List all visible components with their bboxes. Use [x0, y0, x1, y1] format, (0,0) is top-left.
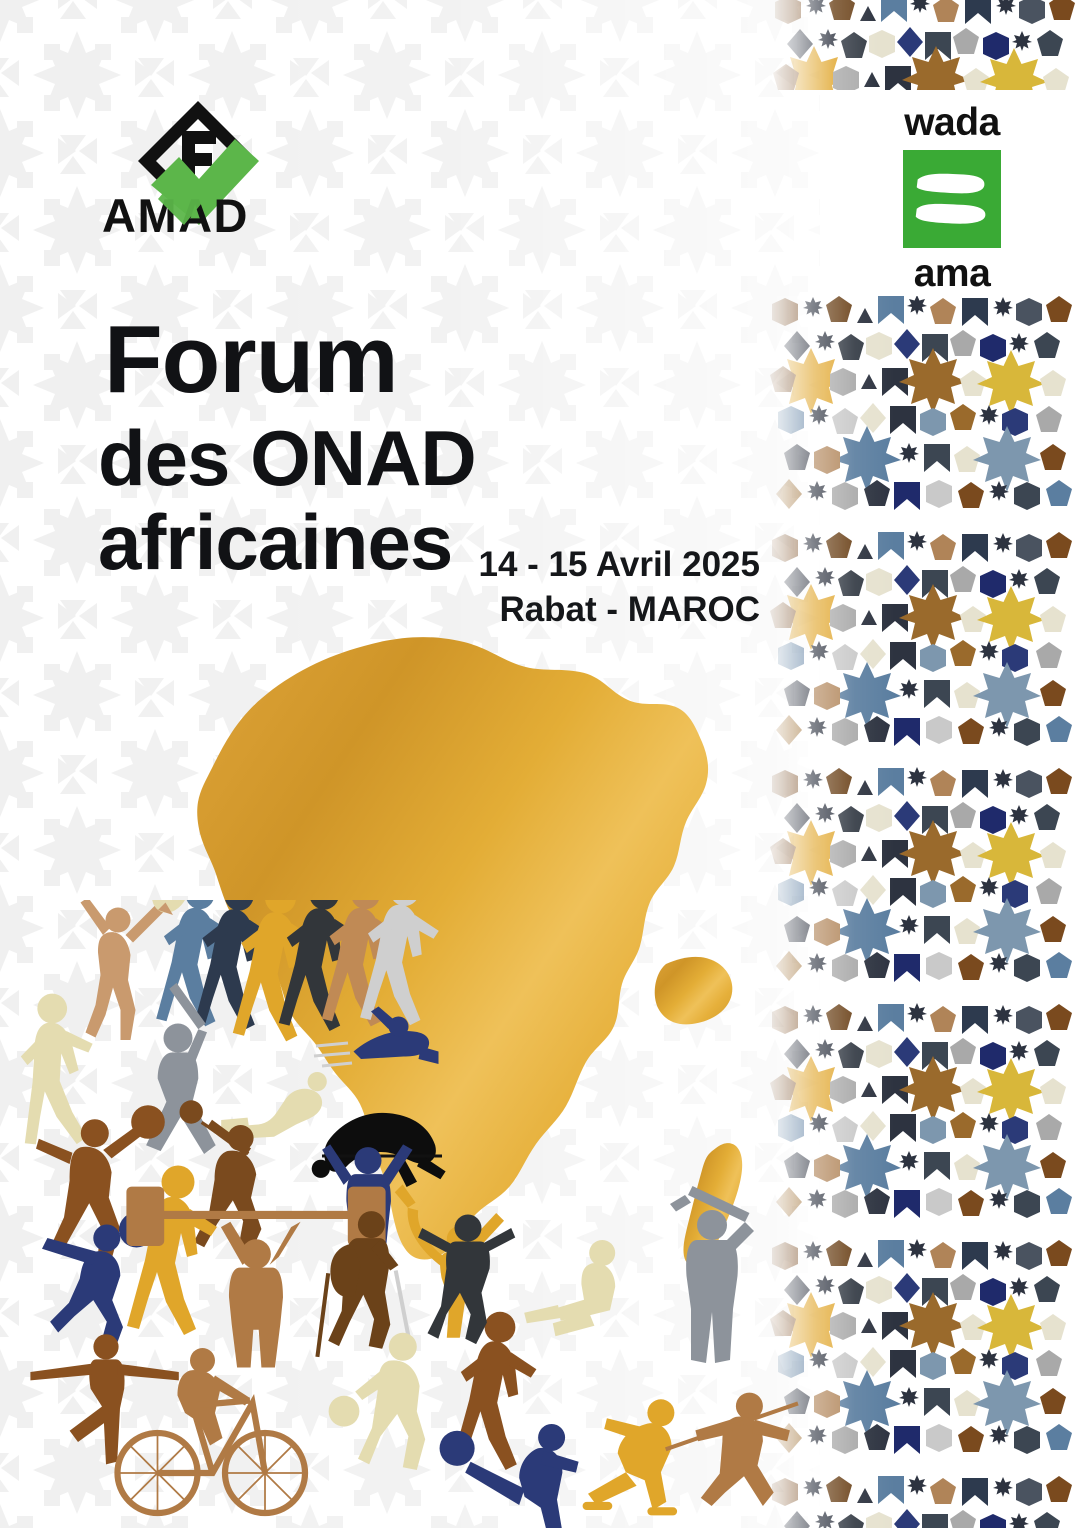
mosaic-right-column	[762, 296, 1080, 1528]
wada-label-top: wada	[862, 103, 1042, 142]
wada-logo: wada ama	[862, 103, 1042, 288]
silhouette-seated-athlete	[524, 1240, 615, 1336]
swimmer-water-lines	[314, 1043, 352, 1066]
silhouette-yoga-tree-pose	[30, 1334, 178, 1464]
wada-label-bottom: ama	[862, 254, 1042, 293]
event-dates: 14 - 15 Avril 2025	[0, 543, 760, 588]
wada-equals-mark	[903, 150, 1001, 248]
amad-wordmark: AMAD	[100, 191, 300, 243]
silhouette-rollerblader	[583, 1399, 678, 1515]
poster-canvas: AMAD wada ama Forum des ONAD africaines …	[0, 0, 1080, 1528]
silhouette-soccer-player	[440, 1424, 579, 1528]
page-title-line-1: Forum	[0, 312, 790, 408]
silhouette-basketball-dribbler	[329, 1333, 426, 1470]
athlete-silhouettes-collage	[0, 900, 800, 1528]
silhouette-golfer	[670, 1186, 754, 1363]
mosaic-top-strip	[770, 0, 1080, 90]
silhouette-javelin-thrower	[666, 1393, 798, 1506]
